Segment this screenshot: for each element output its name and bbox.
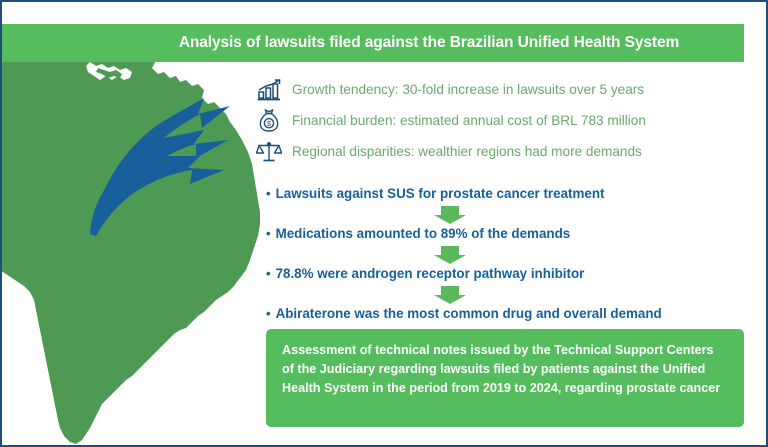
chain-arrow-2 xyxy=(266,244,766,266)
svg-text:$: $ xyxy=(267,121,271,128)
down-arrow-icon xyxy=(434,206,466,224)
highlight-text-regional: Regional disparities: wealthier regions … xyxy=(292,144,642,159)
bar-chart-growth-icon xyxy=(252,76,286,104)
highlight-text-growth: Growth tendency: 30-fold increase in law… xyxy=(292,82,644,97)
highlight-row-growth: Growth tendency: 30-fold increase in law… xyxy=(252,74,760,105)
highlight-text-financial: Financial burden: estimated annual cost … xyxy=(292,113,646,128)
page-title: Analysis of lawsuits filed against the B… xyxy=(179,34,679,52)
bullet-item-4: • Abiraterone was the most common drug a… xyxy=(266,306,766,324)
bullet-dot-icon: • xyxy=(266,307,271,320)
bullet-item-2: • Medications amounted to 89% of the dem… xyxy=(266,226,766,244)
highlights-list: Growth tendency: 30-fold increase in law… xyxy=(252,74,760,167)
bullet-text-3: 78.8% were androgen receptor pathway inh… xyxy=(276,266,585,281)
summary-text: Assessment of technical notes issued by … xyxy=(282,341,728,398)
bullet-text-2: Medications amounted to 89% of the deman… xyxy=(276,226,571,241)
bullet-dot-icon: • xyxy=(266,187,271,200)
bullet-chain: • Lawsuits against SUS for prostate canc… xyxy=(266,186,766,324)
down-arrow-icon xyxy=(434,246,466,264)
balance-scales-icon xyxy=(252,138,286,166)
highlight-row-financial: $ Financial burden: estimated annual cos… xyxy=(252,105,760,136)
bullet-dot-icon: • xyxy=(266,267,271,280)
map-arrows-group xyxy=(2,52,262,242)
down-arrow-icon xyxy=(434,286,466,304)
curved-arrow-3 xyxy=(90,156,224,236)
bullet-text-4: Abiraterone was the most common drug and… xyxy=(276,306,662,321)
bullet-dot-icon: • xyxy=(266,227,271,240)
bullet-text-1: Lawsuits against SUS for prostate cancer… xyxy=(276,186,605,201)
summary-box: Assessment of technical notes issued by … xyxy=(266,329,744,427)
chain-arrow-1 xyxy=(266,204,766,226)
money-bag-icon: $ xyxy=(252,107,286,135)
highlight-row-regional: Regional disparities: wealthier regions … xyxy=(252,136,760,167)
bullet-item-1: • Lawsuits against SUS for prostate canc… xyxy=(266,186,766,204)
infographic-root: Analysis of lawsuits filed against the B… xyxy=(0,0,768,447)
title-banner: Analysis of lawsuits filed against the B… xyxy=(2,24,744,62)
chain-arrow-3 xyxy=(266,284,766,306)
bullet-item-3: • 78.8% were androgen receptor pathway i… xyxy=(266,266,766,284)
